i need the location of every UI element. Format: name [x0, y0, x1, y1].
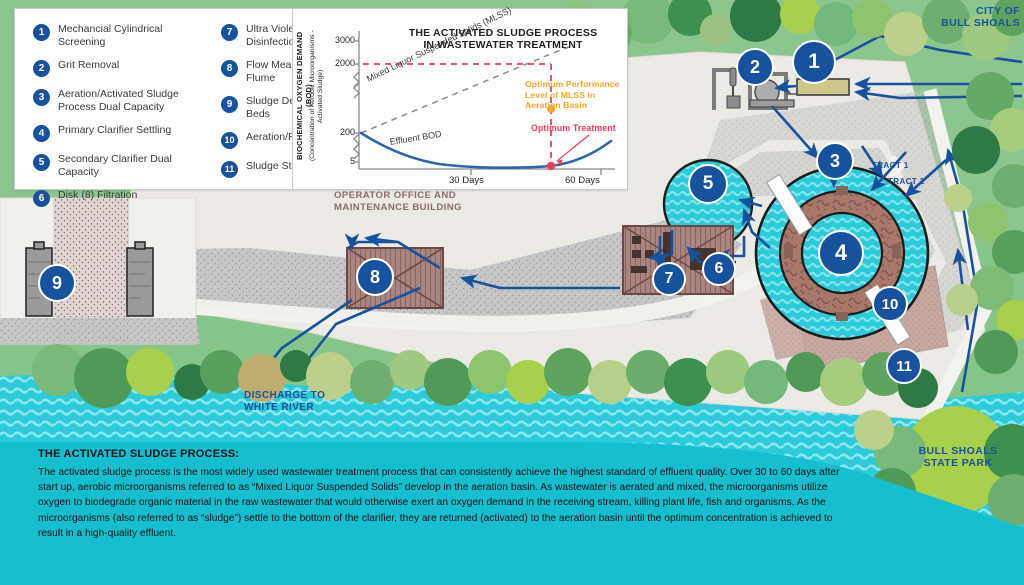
legend-badge-5: 5 — [33, 154, 50, 171]
legend-badge-10: 10 — [221, 132, 238, 149]
bod-mlss-chart: THE ACTIVATED SLUDGE PROCESS IN WASTEWAT… — [292, 8, 628, 190]
map-marker-7[interactable]: 7 — [652, 262, 686, 296]
map-marker-8[interactable]: 8 — [356, 258, 394, 296]
city-of-bull-shoals-line1: CITY OF — [930, 6, 1020, 18]
label-tract-1: TRACT 1 — [872, 160, 909, 172]
ytick-2000: 2000 — [325, 58, 355, 68]
map-marker-1[interactable]: 1 — [792, 40, 836, 84]
legend-label-1: Mechancial Cylindrical Screening — [58, 23, 203, 48]
discharge-line1: DISCHARGE TO — [244, 390, 325, 402]
legend-label-2: Grit Removal — [58, 59, 119, 72]
legend-item-6[interactable]: 6 Disk (8) Filtration — [33, 189, 203, 207]
ytick-3000: 3000 — [325, 35, 355, 45]
label-city-of-bull-shoals: CITY OF BULL SHOALS — [930, 6, 1020, 29]
legend-badge-1: 1 — [33, 24, 50, 41]
discharge-line2: WHITE RIVER — [244, 402, 325, 414]
map-marker-3[interactable]: 3 — [816, 142, 854, 180]
legend-item-4[interactable]: 4 Primary Clarifier Settling — [33, 124, 203, 142]
caption-text-block: THE ACTIVATED SLUDGE PROCESS: The activa… — [38, 448, 858, 541]
label-bull-shoals-state-park: BULL SHOALS STATE PARK — [908, 446, 1008, 469]
state-park-line2: STATE PARK — [908, 458, 1008, 470]
legend-label-6: Disk (8) Filtration — [58, 189, 137, 202]
legend-item-2[interactable]: 2 Grit Removal — [33, 59, 203, 77]
legend-item-5[interactable]: 5 Secondary Clarifier Dual Capacity — [33, 153, 203, 178]
map-marker-11[interactable]: 11 — [886, 348, 922, 384]
legend-label-5: Secondary Clarifier Dual Capacity — [58, 153, 203, 178]
caption-body: The activated sludge process is the most… — [38, 465, 858, 541]
annotation-optimum-performance: Optimum Performance Level of MLSS in Aer… — [525, 79, 625, 111]
map-marker-9[interactable]: 9 — [38, 264, 76, 302]
legend-badge-2: 2 — [33, 60, 50, 77]
legend-label-3: Aeration/Activated Sludge Process Dual C… — [58, 88, 203, 113]
annotation-optimum-treatment: Optimum Treatment — [531, 123, 627, 133]
ytick-200: 200 — [329, 127, 355, 137]
chart-y-axis-sublabel: (Concentration of Aerobic Microorganisms… — [310, 21, 324, 171]
label-discharge-to-white-river: DISCHARGE TO WHITE RIVER — [244, 390, 325, 413]
city-of-bull-shoals-line2: BULL SHOALS — [930, 18, 1020, 30]
map-marker-6[interactable]: 6 — [702, 252, 736, 286]
legend-column-1: 1 Mechancial Cylindrical Screening 2 Gri… — [33, 23, 203, 218]
state-park-line1: BULL SHOALS — [908, 446, 1008, 458]
legend-label-4: Primary Clarifier Settling — [58, 124, 171, 137]
infographic-canvas: THE ACTIVATED SLUDGE PROCESS: The activa… — [0, 0, 1024, 585]
xtick-60-days: 60 Days — [565, 175, 600, 186]
label-tract-2: TRACT 2 — [888, 176, 925, 188]
legend-badge-9: 9 — [221, 96, 238, 113]
legend-badge-3: 3 — [33, 89, 50, 106]
legend-badge-4: 4 — [33, 125, 50, 142]
map-marker-10[interactable]: 10 — [872, 286, 908, 322]
legend-badge-11: 11 — [221, 161, 238, 178]
legend-badge-6: 6 — [33, 190, 50, 207]
legend-badge-8: 8 — [221, 60, 238, 77]
map-marker-5[interactable]: 5 — [688, 164, 728, 204]
map-marker-2[interactable]: 2 — [736, 48, 774, 86]
map-marker-4[interactable]: 4 — [818, 230, 864, 276]
xtick-30-days: 30 Days — [449, 175, 484, 186]
optimum-treatment-marker — [547, 162, 555, 170]
legend-item-1[interactable]: 1 Mechancial Cylindrical Screening — [33, 23, 203, 48]
legend-item-3[interactable]: 3 Aeration/Activated Sludge Process Dual… — [33, 88, 203, 113]
legend-badge-7: 7 — [221, 24, 238, 41]
caption-heading: THE ACTIVATED SLUDGE PROCESS: — [38, 448, 858, 460]
